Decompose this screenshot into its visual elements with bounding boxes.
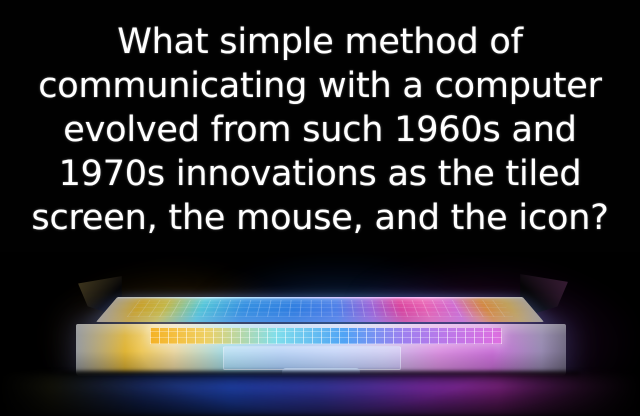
trivia-question-card: What simple method of communicating with… [0, 0, 640, 416]
question-text-block: What simple method of communicating with… [0, 20, 640, 240]
screen-keyboard-reflection [127, 300, 513, 316]
laptop-photo [0, 252, 640, 416]
question-line-4: 1970s innovations as the tiled [0, 152, 640, 196]
question-line-5: screen, the mouse, and the icon? [0, 196, 640, 240]
table-reflection [0, 374, 640, 416]
laptop-keyboard [150, 328, 503, 344]
screen-rim-light [116, 297, 524, 298]
laptop-base [76, 324, 566, 376]
question-line-1: What simple method of [0, 20, 640, 64]
question-line-2: communicating with a computer [0, 64, 640, 108]
laptop-lid-screen [96, 297, 544, 322]
question-line-3: evolved from such 1960s and [0, 108, 640, 152]
laptop-trackpad [223, 346, 401, 370]
